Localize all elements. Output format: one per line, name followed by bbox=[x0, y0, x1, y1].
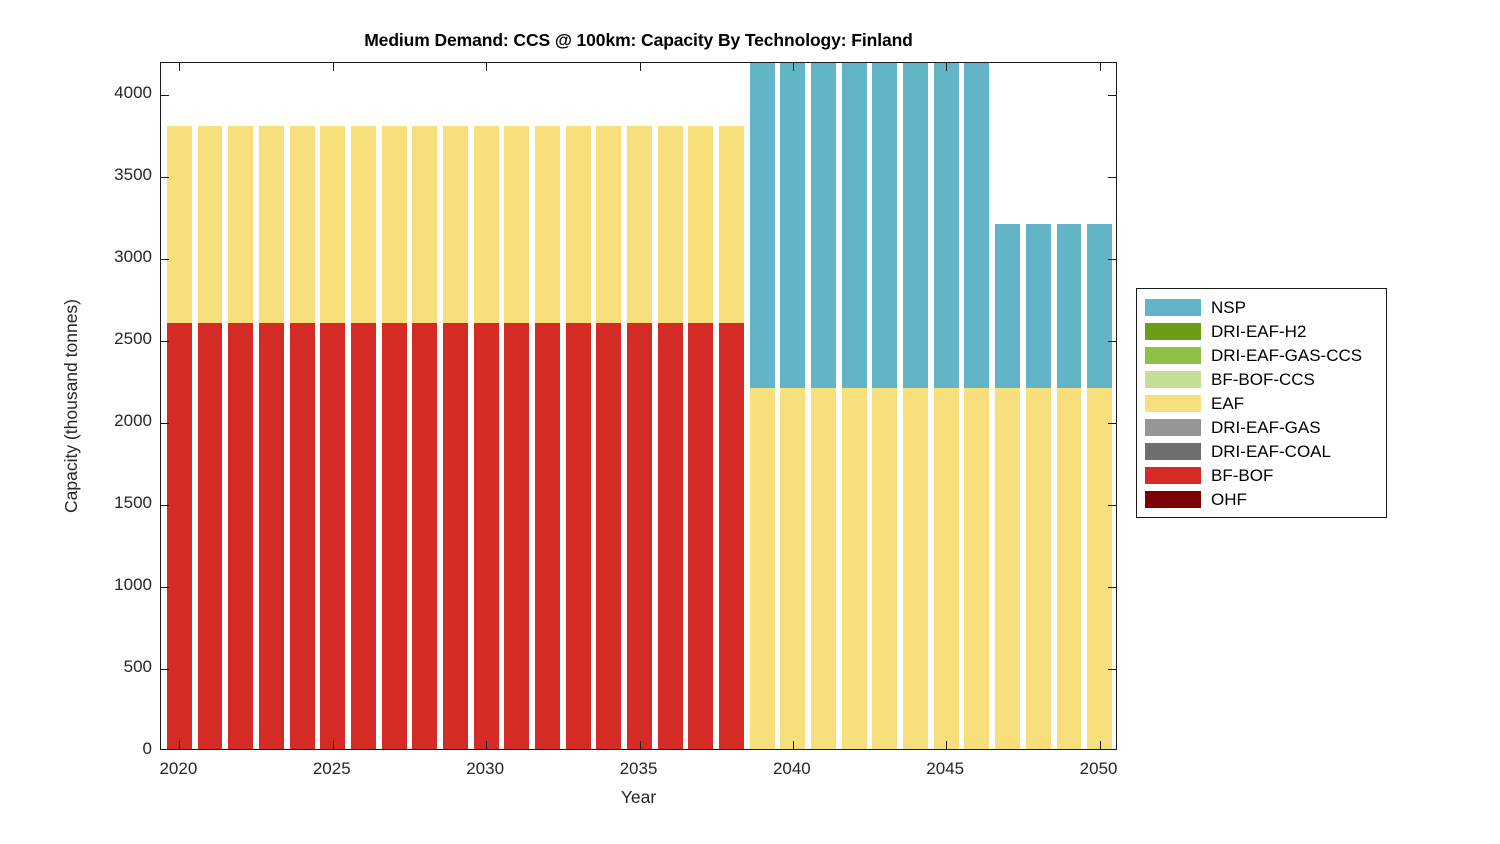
bar-segment-eaf bbox=[1057, 388, 1082, 749]
bar-segment-bf-bof bbox=[198, 323, 223, 749]
bar-segment-bf-bof bbox=[290, 323, 315, 749]
bar-segment-eaf bbox=[504, 126, 529, 323]
bar-segment-eaf bbox=[811, 388, 836, 749]
y-tick-label: 3000 bbox=[114, 247, 152, 267]
bar-segment-bf-bof bbox=[259, 323, 284, 749]
bar-segment-eaf bbox=[995, 388, 1020, 749]
bar-segment-eaf bbox=[719, 126, 744, 323]
y-tick-label: 2000 bbox=[114, 411, 152, 431]
y-tick-label: 1000 bbox=[114, 575, 152, 595]
legend-swatch-icon bbox=[1145, 299, 1201, 316]
bar-stack bbox=[995, 63, 1020, 749]
legend-label: DRI-EAF-COAL bbox=[1211, 443, 1331, 460]
x-tick-mark bbox=[333, 741, 334, 749]
y-tick-mark bbox=[1108, 505, 1116, 506]
bar-segment-bf-bof bbox=[474, 323, 499, 749]
x-tick-label: 2050 bbox=[1059, 759, 1139, 779]
bar-stack bbox=[443, 63, 468, 749]
bar-segment-eaf bbox=[290, 126, 315, 323]
y-tick-mark bbox=[161, 177, 169, 178]
bar-segment-eaf bbox=[382, 126, 407, 323]
x-tick-mark bbox=[486, 741, 487, 749]
bar-segment-bf-bof bbox=[443, 323, 468, 749]
x-tick-mark bbox=[1100, 741, 1101, 749]
y-tick-mark bbox=[161, 669, 169, 670]
legend-swatch-icon bbox=[1145, 491, 1201, 508]
bar-stack bbox=[474, 63, 499, 749]
x-tick-mark bbox=[946, 63, 947, 71]
bar-stack bbox=[535, 63, 560, 749]
legend-swatch-icon bbox=[1145, 467, 1201, 484]
bar-segment-bf-bof bbox=[228, 323, 253, 749]
x-tick-label: 2025 bbox=[292, 759, 372, 779]
bar-stack bbox=[780, 63, 805, 749]
y-tick-mark bbox=[1108, 95, 1116, 96]
bar-segment-bf-bof bbox=[688, 323, 713, 749]
bar-segment-bf-bof bbox=[535, 323, 560, 749]
legend-item[interactable]: DRI-EAF-GAS-CCS bbox=[1137, 343, 1386, 367]
legend-item[interactable]: DRI-EAF-H2 bbox=[1137, 319, 1386, 343]
bar-segment-nsp bbox=[872, 63, 897, 388]
plot-area bbox=[160, 62, 1117, 750]
bar-stack bbox=[320, 63, 345, 749]
bar-segment-eaf bbox=[658, 126, 683, 323]
legend-swatch-icon bbox=[1145, 347, 1201, 364]
bar-segment-eaf bbox=[412, 126, 437, 323]
bar-stack bbox=[811, 63, 836, 749]
bar-segment-eaf bbox=[320, 126, 345, 323]
bar-segment-eaf bbox=[198, 126, 223, 323]
legend-item[interactable]: BF-BOF bbox=[1137, 463, 1386, 487]
bar-segment-eaf bbox=[903, 388, 928, 749]
x-tick-label: 2035 bbox=[599, 759, 679, 779]
y-tick-mark bbox=[161, 505, 169, 506]
bar-stack bbox=[1026, 63, 1051, 749]
bar-segment-bf-bof bbox=[412, 323, 437, 749]
bar-segment-eaf bbox=[780, 388, 805, 749]
bar-segment-eaf bbox=[627, 126, 652, 323]
bar-segment-nsp bbox=[750, 63, 775, 388]
x-tick-mark bbox=[333, 63, 334, 71]
y-tick-mark bbox=[161, 423, 169, 424]
legend-label: OHF bbox=[1211, 491, 1247, 508]
y-tick-mark bbox=[161, 587, 169, 588]
y-axis-title: Capacity (thousand tonnes) bbox=[61, 299, 82, 513]
legend-swatch-icon bbox=[1145, 395, 1201, 412]
bar-segment-bf-bof bbox=[504, 323, 529, 749]
y-tick-label: 1500 bbox=[114, 493, 152, 513]
y-tick-mark bbox=[1108, 587, 1116, 588]
bar-stack bbox=[198, 63, 223, 749]
x-tick-mark bbox=[179, 741, 180, 749]
bar-segment-eaf bbox=[1026, 388, 1051, 749]
bar-segment-nsp bbox=[934, 63, 959, 388]
legend-swatch-icon bbox=[1145, 371, 1201, 388]
bar-stack bbox=[596, 63, 621, 749]
bar-segment-nsp bbox=[1087, 224, 1112, 388]
bar-stack bbox=[903, 63, 928, 749]
bar-stack bbox=[259, 63, 284, 749]
bar-stack bbox=[566, 63, 591, 749]
bar-stack bbox=[964, 63, 989, 749]
bar-segment-eaf bbox=[443, 126, 468, 323]
bar-stack bbox=[750, 63, 775, 749]
bar-stack bbox=[658, 63, 683, 749]
legend-item[interactable]: NSP bbox=[1137, 295, 1386, 319]
legend-item[interactable]: BF-BOF-CCS bbox=[1137, 367, 1386, 391]
legend-swatch-icon bbox=[1145, 323, 1201, 340]
y-tick-mark bbox=[161, 95, 169, 96]
bar-stack bbox=[412, 63, 437, 749]
bar-segment-eaf bbox=[934, 388, 959, 749]
x-tick-mark bbox=[946, 741, 947, 749]
y-tick-mark bbox=[1108, 669, 1116, 670]
bar-segment-eaf bbox=[259, 126, 284, 323]
x-tick-label: 2045 bbox=[905, 759, 985, 779]
bar-segment-eaf bbox=[872, 388, 897, 749]
bar-stack bbox=[228, 63, 253, 749]
bar-segment-bf-bof bbox=[167, 323, 192, 749]
bar-segment-eaf bbox=[351, 126, 376, 323]
bar-stack bbox=[934, 63, 959, 749]
bar-segment-nsp bbox=[842, 63, 867, 388]
bar-segment-eaf bbox=[566, 126, 591, 323]
x-tick-mark bbox=[793, 741, 794, 749]
bar-segment-nsp bbox=[903, 63, 928, 388]
x-tick-mark bbox=[486, 63, 487, 71]
bar-segment-nsp bbox=[1057, 224, 1082, 388]
legend-label: NSP bbox=[1211, 299, 1246, 316]
bar-stack bbox=[627, 63, 652, 749]
x-tick-mark bbox=[640, 63, 641, 71]
x-tick-mark bbox=[793, 63, 794, 71]
bar-segment-bf-bof bbox=[627, 323, 652, 749]
bar-stack bbox=[351, 63, 376, 749]
bar-segment-eaf bbox=[964, 388, 989, 749]
legend-label: DRI-EAF-GAS-CCS bbox=[1211, 347, 1362, 364]
bar-stack bbox=[1087, 63, 1112, 749]
bar-stack bbox=[382, 63, 407, 749]
x-axis-title: Year bbox=[160, 787, 1117, 808]
bar-segment-nsp bbox=[811, 63, 836, 388]
y-tick-label: 3500 bbox=[114, 165, 152, 185]
bar-segment-bf-bof bbox=[596, 323, 621, 749]
x-tick-mark bbox=[1100, 63, 1101, 71]
bar-segment-eaf bbox=[596, 126, 621, 323]
y-tick-mark bbox=[1108, 341, 1116, 342]
bar-segment-eaf bbox=[535, 126, 560, 323]
y-tick-mark bbox=[1108, 423, 1116, 424]
legend-label: EAF bbox=[1211, 395, 1244, 412]
bar-segment-nsp bbox=[780, 63, 805, 388]
bar-stack bbox=[1057, 63, 1082, 749]
x-tick-label: 2040 bbox=[752, 759, 832, 779]
bar-segment-bf-bof bbox=[658, 323, 683, 749]
bar-stack bbox=[290, 63, 315, 749]
legend-label: DRI-EAF-GAS bbox=[1211, 419, 1321, 436]
y-tick-label: 500 bbox=[124, 657, 152, 677]
bar-segment-eaf bbox=[750, 388, 775, 749]
y-tick-label: 0 bbox=[143, 739, 152, 759]
legend-item[interactable]: EAF bbox=[1137, 391, 1386, 415]
bar-segment-nsp bbox=[964, 63, 989, 388]
bar-segment-bf-bof bbox=[566, 323, 591, 749]
bar-segment-eaf bbox=[842, 388, 867, 749]
bar-stack bbox=[842, 63, 867, 749]
bar-stack bbox=[719, 63, 744, 749]
legend-label: BF-BOF bbox=[1211, 467, 1273, 484]
legend-label: DRI-EAF-H2 bbox=[1211, 323, 1306, 340]
legend-item[interactable]: OHF bbox=[1137, 487, 1386, 511]
y-tick-mark bbox=[161, 259, 169, 260]
bar-stack bbox=[872, 63, 897, 749]
matlab-figure: Medium Demand: CCS @ 100km: Capacity By … bbox=[0, 0, 1500, 844]
bar-segment-nsp bbox=[995, 224, 1020, 388]
legend-swatch-icon bbox=[1145, 443, 1201, 460]
x-tick-mark bbox=[179, 63, 180, 71]
bar-stack bbox=[167, 63, 192, 749]
bar-segment-eaf bbox=[167, 126, 192, 323]
y-tick-label: 2500 bbox=[114, 329, 152, 349]
bar-segment-eaf bbox=[688, 126, 713, 323]
bar-stack bbox=[504, 63, 529, 749]
legend-item[interactable]: DRI-EAF-COAL bbox=[1137, 439, 1386, 463]
y-tick-mark bbox=[161, 341, 169, 342]
legend-item[interactable]: DRI-EAF-GAS bbox=[1137, 415, 1386, 439]
legend-label: BF-BOF-CCS bbox=[1211, 371, 1315, 388]
legend: NSPDRI-EAF-H2DRI-EAF-GAS-CCSBF-BOF-CCSEA… bbox=[1136, 288, 1387, 518]
bar-stack bbox=[688, 63, 713, 749]
legend-swatch-icon bbox=[1145, 419, 1201, 436]
bar-segment-bf-bof bbox=[351, 323, 376, 749]
x-tick-label: 2030 bbox=[445, 759, 525, 779]
bar-segment-eaf bbox=[1087, 388, 1112, 749]
bar-segment-nsp bbox=[1026, 224, 1051, 388]
plot-inner bbox=[161, 63, 1116, 749]
bar-segment-bf-bof bbox=[719, 323, 744, 749]
bar-segment-eaf bbox=[228, 126, 253, 323]
x-tick-mark bbox=[640, 741, 641, 749]
bar-segment-eaf bbox=[474, 126, 499, 323]
bar-segment-bf-bof bbox=[320, 323, 345, 749]
bar-segment-bf-bof bbox=[382, 323, 407, 749]
y-tick-mark bbox=[1108, 259, 1116, 260]
y-tick-mark bbox=[1108, 177, 1116, 178]
y-tick-label: 4000 bbox=[114, 83, 152, 103]
chart-title: Medium Demand: CCS @ 100km: Capacity By … bbox=[160, 30, 1117, 51]
x-tick-label: 2020 bbox=[138, 759, 218, 779]
